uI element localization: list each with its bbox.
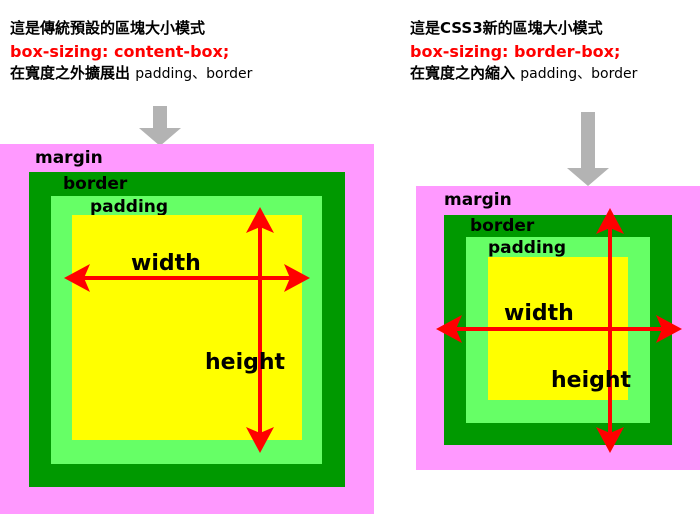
down-arrow-icon-right [567, 112, 609, 186]
caption-content-box: 這是傳統預設的區塊大小模式 box-sizing: content-box; 在… [10, 18, 252, 85]
caption-left-line3-prefix: 在寬度之外擴展出 [10, 64, 130, 82]
caption-right-code: box-sizing: border-box; [410, 40, 637, 63]
caption-left-line3-mono: padding、border [135, 66, 252, 82]
right-height-arrow-icon [594, 208, 626, 453]
right-padding-label: padding [488, 240, 566, 257]
right-height-label: height [551, 370, 631, 392]
caption-left-code: box-sizing: content-box; [10, 40, 252, 63]
caption-left-line3: 在寬度之外擴展出 padding、border [10, 63, 252, 85]
left-border-label: border [63, 176, 127, 193]
caption-right-line3: 在寬度之內縮入 padding、border [410, 63, 637, 85]
caption-right-line3-mono: padding、border [520, 66, 637, 82]
left-height-label: height [205, 352, 285, 374]
right-border-label: border [470, 218, 534, 235]
caption-left-line1: 這是傳統預設的區塊大小模式 [10, 18, 252, 40]
left-height-arrow-icon [244, 207, 276, 453]
caption-right-line1: 這是CSS3新的區塊大小模式 [410, 18, 637, 40]
left-padding-label: padding [90, 199, 168, 216]
right-width-label: width [504, 303, 574, 325]
down-arrow-icon-left [139, 106, 181, 146]
right-margin-label: margin [444, 192, 512, 209]
left-width-label: width [131, 253, 201, 275]
left-margin-label: margin [35, 150, 103, 167]
caption-right-line3-prefix: 在寬度之內縮入 [410, 64, 515, 82]
caption-border-box: 這是CSS3新的區塊大小模式 box-sizing: border-box; 在… [410, 18, 637, 85]
